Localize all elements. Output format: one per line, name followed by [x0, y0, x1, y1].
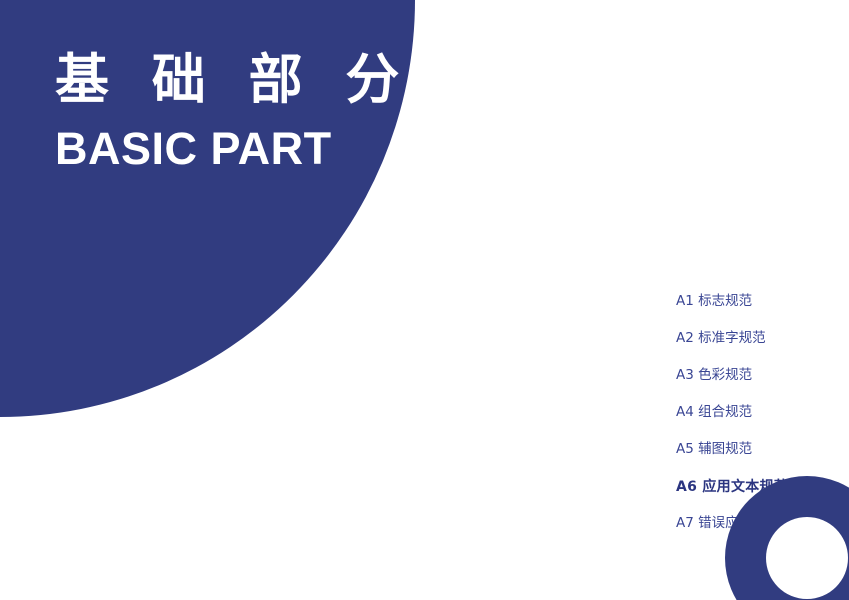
contents-item-label: A3 色彩规范 [676, 369, 752, 383]
contents-item-a2[interactable]: A2 标准字规范 [676, 332, 846, 369]
cover-page: 基 础 部 分 BASIC PART A1 标志规范 A2 标准字规范 A3 色… [0, 0, 849, 600]
contents-item-a1[interactable]: A1 标志规范 [676, 295, 846, 332]
contents-item-label: A5 辅图规范 [676, 443, 752, 457]
contents-item-a4[interactable]: A4 组合规范 [676, 406, 846, 443]
contents-item-label: A4 组合规范 [676, 406, 752, 420]
contents-item-a5[interactable]: A5 辅图规范 [676, 443, 846, 480]
page-title-english: BASIC PART [55, 124, 385, 174]
title-block: 基 础 部 分 BASIC PART [55, 48, 385, 173]
contents-item-label: A2 标准字规范 [676, 332, 766, 346]
contents-item-a3[interactable]: A3 色彩规范 [676, 369, 846, 406]
contents-item-label: A1 标志规范 [676, 295, 752, 309]
page-title-chinese: 基 础 部 分 [55, 48, 385, 112]
